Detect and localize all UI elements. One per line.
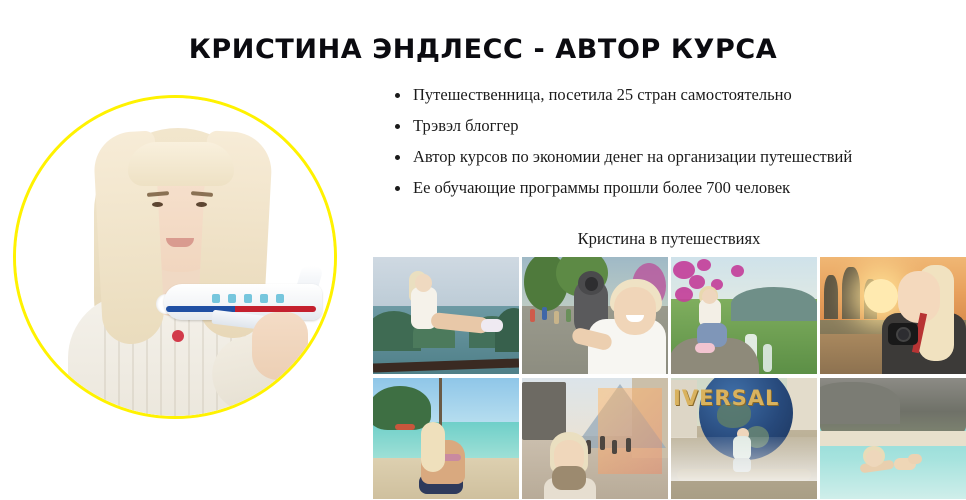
toy-plane-stripe [166, 306, 316, 312]
gallery-caption: Кристина в путешествиях [372, 229, 966, 249]
gallery-photo-waterfall[interactable] [671, 257, 817, 374]
list-item: Автор курсов по экономии денег на органи… [392, 146, 952, 168]
gallery-photo-universal-studios[interactable]: IVERSAL [671, 378, 817, 499]
promo-page: КРИСТИНА ЭНДЛЕСС - АВТОР КУРСА [0, 0, 966, 500]
gallery-photo-monkey[interactable] [522, 257, 668, 374]
gallery-photo-beach-swing[interactable] [373, 378, 519, 499]
page-title: КРИСТИНА ЭНДЛЕСС - АВТОР КУРСА [0, 34, 966, 65]
author-facts-list: Путешественница, посетила 25 стран самос… [392, 84, 952, 208]
universal-sign-text: IVERSAL [673, 386, 813, 410]
list-item: Путешественница, посетила 25 стран самос… [392, 84, 952, 106]
list-item: Ее обучающие программы прошли более 700 … [392, 177, 952, 199]
list-item: Трэвэл блоггер [392, 115, 952, 137]
gallery-photo-lagoon[interactable] [820, 378, 966, 499]
gallery-photo-angkor-sunrise[interactable] [820, 257, 966, 374]
portrait-hand [252, 312, 308, 380]
portrait-ring [13, 95, 337, 419]
gallery-photo-islands-viewpoint[interactable] [373, 257, 519, 374]
portrait-eye-left [152, 202, 163, 207]
toy-plane-wheel [172, 330, 184, 342]
portrait-fringe [128, 142, 234, 186]
portrait-eye-right [196, 202, 207, 207]
gallery-photo-louvre[interactable] [522, 378, 668, 499]
travel-photo-grid: IVERSAL [373, 257, 966, 500]
author-portrait [13, 95, 337, 419]
portrait-image [16, 98, 334, 416]
